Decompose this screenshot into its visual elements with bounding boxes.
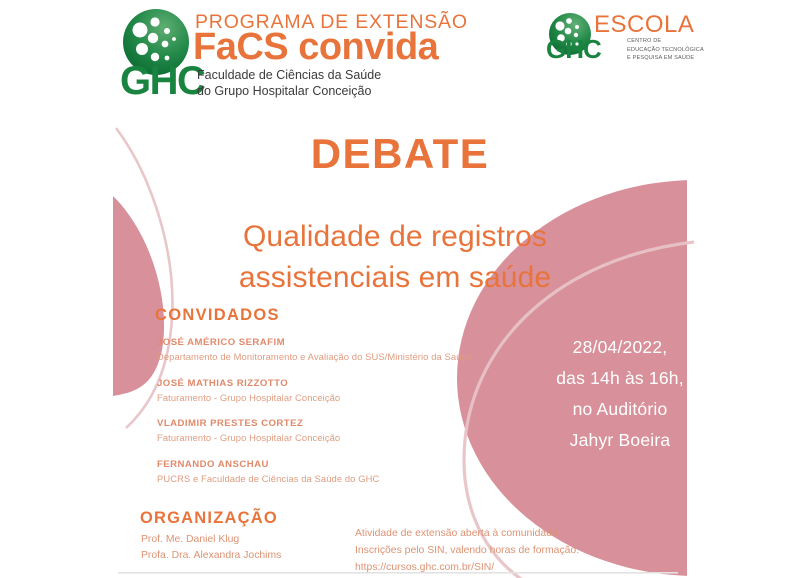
event-venue-line1: no Auditório — [545, 394, 695, 425]
escola-subtitle: CENTRO DE EDUCAÇÃO TECNOLÓGICA E PESQUIS… — [627, 37, 704, 63]
event-type-title: DEBATE — [0, 133, 800, 175]
event-subject-line1: Qualidade de registros — [0, 216, 790, 257]
event-subject-line2: assistenciais em saúde — [0, 257, 790, 298]
footer-registration-url[interactable]: https://cursos.ghc.com.br/SIN/ — [355, 560, 579, 577]
event-venue-line2: Jahyr Boeira — [545, 425, 695, 456]
guests-list: JOSÉ AMÉRICO SERAFIM Departamento de Mon… — [157, 336, 557, 498]
organizer-1: Prof. Me. Daniel Klug — [141, 532, 281, 548]
footer-activity-note: Atividade de extensão aberta à comunidad… — [355, 526, 579, 543]
guests-heading: CONVIDADOS — [155, 306, 280, 325]
event-subject-title: Qualidade de registros assistenciais em … — [0, 216, 790, 299]
escola-subtitle-line1: CENTRO DE — [627, 37, 704, 46]
poster-canvas: GHC PROGRAMA DE EXTENSÃO FaCS convida Fa… — [0, 0, 800, 578]
guest-entry: JOSÉ MATHIAS RIZZOTTO Faturamento - Grup… — [157, 377, 557, 406]
facs-subtitle-line1: Faculdade de Ciências da Saúde — [197, 68, 381, 84]
escola-wordmark: ESCOLA — [594, 13, 694, 37]
escola-ghc-wordmark: GHC — [546, 36, 601, 62]
event-time: das 14h às 16h, — [545, 363, 695, 394]
footer-registration-note: Inscrições pelo SIN, valendo horas de fo… — [355, 543, 579, 560]
facs-subtitle-line2: do Grupo Hospitalar Conceição — [197, 84, 381, 100]
facs-subtitle: Faculdade de Ciências da Saúde do Grupo … — [197, 68, 381, 99]
event-date: 28/04/2022, — [545, 332, 695, 363]
organizer-2: Profa. Dra. Alexandra Jochims — [141, 548, 281, 564]
guest-name: FERNANDO ANSCHAU — [157, 458, 557, 472]
escola-subtitle-line2: EDUCAÇÃO TECNOLÓGICA — [627, 46, 704, 55]
facs-convida-title: FaCS convida — [193, 27, 438, 69]
guest-role: Departamento de Monitoramento e Avaliaçã… — [157, 350, 557, 364]
guest-name: VLADIMIR PRESTES CORTEZ — [157, 417, 557, 431]
guest-role: Faturamento - Grupo Hospitalar Conceição — [157, 391, 557, 405]
organization-people: Prof. Me. Daniel Klug Profa. Dra. Alexan… — [141, 532, 281, 564]
event-datetime-venue: 28/04/2022, das 14h às 16h, no Auditório… — [545, 332, 695, 457]
guest-role: Faturamento - Grupo Hospitalar Conceição — [157, 431, 557, 445]
poster-header: GHC PROGRAMA DE EXTENSÃO FaCS convida Fa… — [0, 0, 800, 105]
organization-heading: ORGANIZAÇÃO — [140, 509, 278, 528]
guest-entry: JOSÉ AMÉRICO SERAFIM Departamento de Mon… — [157, 336, 557, 365]
guest-role: PUCRS e Faculdade de Ciências da Saúde d… — [157, 472, 557, 486]
guest-entry: FERNANDO ANSCHAU PUCRS e Faculdade de Ci… — [157, 458, 557, 487]
facs-logo-lockup: GHC PROGRAMA DE EXTENSÃO FaCS convida Fa… — [122, 6, 502, 102]
guest-name: JOSÉ MATHIAS RIZZOTTO — [157, 377, 557, 391]
ghc-wordmark: GHC — [120, 61, 204, 101]
guest-name: JOSÉ AMÉRICO SERAFIM — [157, 336, 557, 350]
escola-subtitle-line3: E PESQUISA EM SAÚDE — [627, 54, 704, 63]
footer-info-block: Atividade de extensão aberta à comunidad… — [355, 526, 579, 577]
escola-ghc-logo-lockup: GHC ESCOLA CENTRO DE EDUCAÇÃO TECNOLÓGIC… — [548, 8, 748, 68]
guest-entry: VLADIMIR PRESTES CORTEZ Faturamento - Gr… — [157, 417, 557, 446]
